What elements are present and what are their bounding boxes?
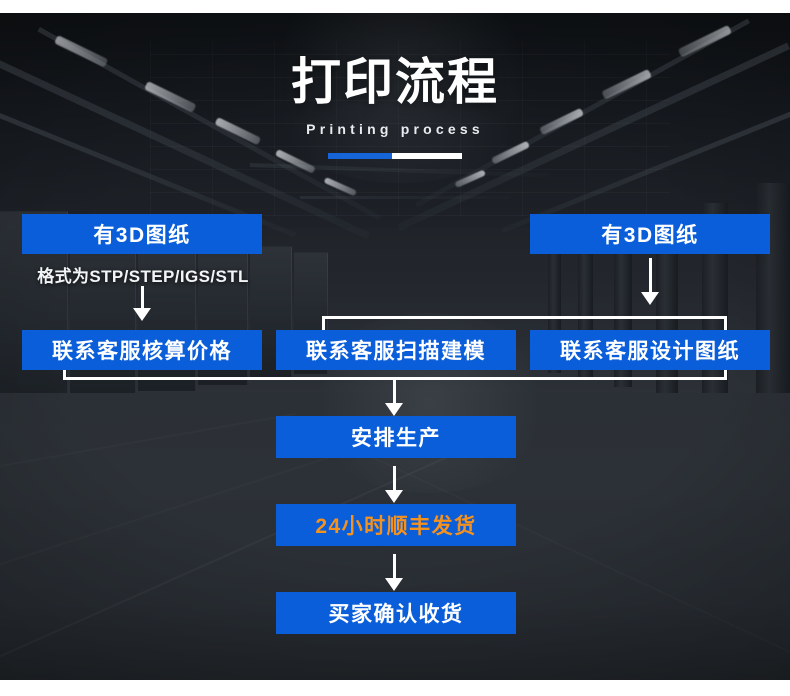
arrow-down-icon bbox=[385, 403, 403, 416]
page-title: 打印流程 bbox=[0, 56, 790, 108]
flow-box-ship-24h[interactable]: 24小时顺丰发货 bbox=[276, 504, 516, 546]
flow-box-arrange-production[interactable]: 安排生产 bbox=[276, 416, 516, 458]
flow-box-has-3d-left[interactable]: 有3D图纸 bbox=[22, 214, 262, 254]
connector-bracket-top-left-leg bbox=[322, 316, 325, 330]
arrow-down-icon bbox=[385, 490, 403, 503]
page-subtitle: Printing process bbox=[0, 121, 790, 137]
bottom-white-strip bbox=[0, 680, 790, 696]
connector-line-to-production bbox=[393, 377, 396, 405]
flow-caption-file-formats: 格式为STP/STEP/IGS/STL bbox=[24, 262, 262, 287]
connector-line-right-down bbox=[649, 258, 652, 294]
flow-box-contact-price[interactable]: 联系客服核算价格 bbox=[22, 330, 262, 370]
connector-bracket-top-right-leg bbox=[724, 316, 727, 330]
connector-line-left-down bbox=[141, 286, 144, 310]
connector-line-shipping-to-confirm bbox=[393, 554, 396, 580]
flow-box-contact-design[interactable]: 联系客服设计图纸 bbox=[530, 330, 770, 370]
arrow-down-icon bbox=[385, 578, 403, 591]
flow-box-buyer-confirm[interactable]: 买家确认收货 bbox=[276, 592, 516, 634]
arrow-down-icon bbox=[641, 292, 659, 305]
title-underline-blue-segment bbox=[328, 153, 392, 159]
connector-line-production-to-shipping bbox=[393, 466, 396, 492]
top-white-strip bbox=[0, 0, 790, 13]
flow-box-contact-scan[interactable]: 联系客服扫描建模 bbox=[276, 330, 516, 370]
connector-bracket-top bbox=[322, 316, 727, 319]
title-underline-white-segment bbox=[392, 153, 462, 159]
printing-process-banner: 打印流程 Printing process 有3D图纸 格式为STP/STEP/… bbox=[0, 0, 790, 696]
arrow-down-icon bbox=[133, 308, 151, 321]
flow-box-has-3d-right[interactable]: 有3D图纸 bbox=[530, 214, 770, 254]
title-underline bbox=[328, 153, 462, 159]
banner-header: 打印流程 Printing process bbox=[0, 56, 790, 159]
